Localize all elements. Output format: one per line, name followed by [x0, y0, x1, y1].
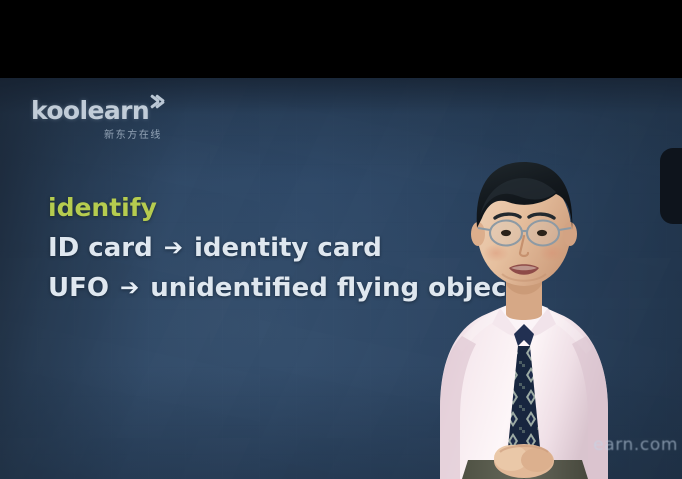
- logo-wordmark: koolearn: [31, 98, 149, 123]
- arrow-right-icon: ➔: [164, 229, 183, 268]
- koolearn-logo: koolearn 新东方在线: [31, 98, 166, 141]
- presenter-figure: [396, 78, 682, 479]
- letterbox-top-bar: [0, 0, 682, 78]
- double-chevron-icon: [150, 94, 166, 110]
- arrow-right-icon: ➔: [120, 269, 139, 308]
- logo-subtitle: 新东方在线: [31, 126, 162, 141]
- logo-row: koolearn: [31, 98, 166, 123]
- right-edge-panel[interactable]: [660, 148, 682, 224]
- video-player-screen: koolearn 新东方在线 identify ID card➔identity…: [0, 0, 682, 479]
- slide-line-2-term: UFO: [48, 273, 109, 303]
- video-frame[interactable]: koolearn 新东方在线 identify ID card➔identity…: [0, 78, 682, 479]
- slide-line-1-term: ID card: [48, 233, 153, 263]
- slide-line-1-expansion: identity card: [194, 233, 382, 263]
